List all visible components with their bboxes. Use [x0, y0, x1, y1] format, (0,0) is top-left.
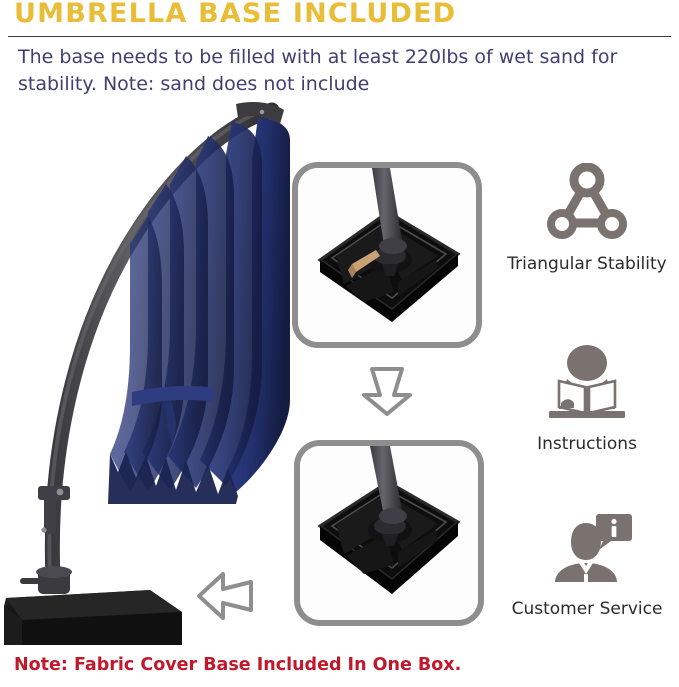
base-photo-bottom	[300, 446, 478, 620]
person-info-bubble-icon	[496, 505, 678, 591]
feature-triangular-stability: Triangular Stability	[496, 160, 678, 274]
feature-label: Instructions	[496, 434, 678, 454]
feature-label: Customer Service	[496, 599, 678, 619]
footer-note: Note: Fabric Cover Base Included In One …	[14, 655, 461, 675]
person-reading-book-icon	[496, 340, 678, 426]
feature-customer-service: Customer Service	[496, 505, 678, 619]
header-divider	[8, 36, 671, 37]
triangle-nodes-icon	[496, 160, 678, 246]
base-photo-frame-top	[292, 162, 482, 348]
arrow-down-icon	[356, 365, 418, 417]
base-photo-frame-bottom	[294, 440, 484, 626]
umbrella-product-image	[0, 100, 290, 645]
base-photo-top	[298, 168, 476, 342]
intro-paragraph: The base needs to be filled with at leas…	[18, 44, 658, 98]
feature-label: Triangular Stability	[496, 254, 678, 274]
page-title: UMBRELLA BASE INCLUDED	[14, 0, 456, 29]
arrow-left-icon	[193, 570, 255, 622]
feature-instructions: Instructions	[496, 340, 678, 454]
